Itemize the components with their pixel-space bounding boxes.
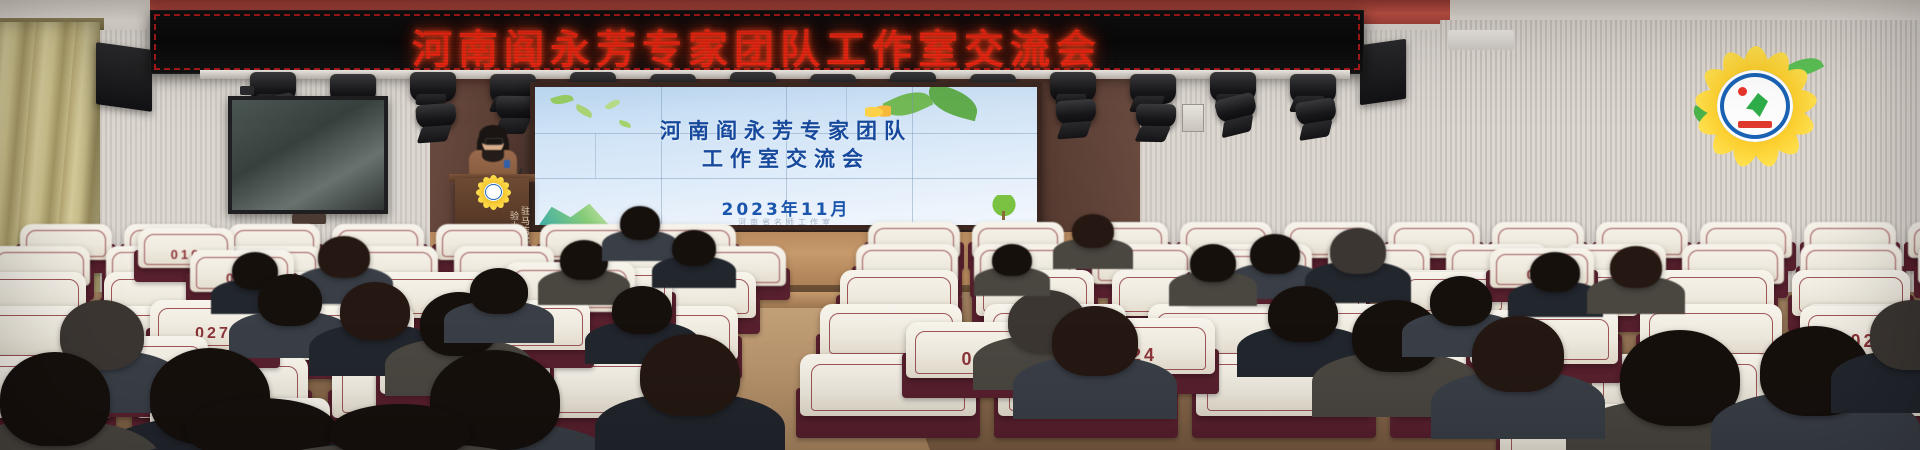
- audience-member-head: [318, 236, 370, 278]
- podium-sunflower-logo: [476, 176, 510, 208]
- audience-member-head: [1268, 286, 1338, 342]
- wall-monitor-screen: [232, 100, 384, 210]
- emblem-bird-icon: [1746, 93, 1768, 117]
- audience-member-head: [1190, 244, 1236, 282]
- audience-member-head: [1250, 234, 1300, 274]
- stage-light: [1294, 97, 1337, 127]
- audience-member-head: [0, 352, 110, 446]
- ceiling-camera: [240, 86, 254, 95]
- presenter-badge: [504, 160, 510, 168]
- emblem-red-dot-icon: [1738, 87, 1747, 96]
- audience-member-head: [1330, 228, 1386, 274]
- audience-member-head: [470, 268, 528, 314]
- stage-light: [410, 72, 456, 102]
- audience-member-head: [186, 398, 336, 450]
- audience-member-head: [1610, 246, 1662, 288]
- wall-speaker-right: [1360, 39, 1406, 105]
- audience-member-head: [560, 240, 608, 280]
- sunflower-logo: [1690, 48, 1822, 166]
- audience-member-head: [1430, 276, 1492, 326]
- podium-logo-core: [484, 183, 503, 201]
- stage-light: [1130, 74, 1176, 104]
- wall-speaker-left: [96, 42, 152, 112]
- presenter-glasses-icon: [485, 138, 503, 145]
- audience-member-head: [258, 274, 322, 326]
- audience-member-head: [340, 282, 410, 340]
- screen-panel-seam: [535, 178, 1037, 179]
- audience-member-head: [1052, 306, 1138, 376]
- audience-member-head: [620, 206, 660, 240]
- stage-light: [1136, 104, 1176, 129]
- screen-title-line1: 河南阎永芳专家团队: [535, 115, 1037, 145]
- audience-member-head: [330, 404, 470, 450]
- audience-member-head: [612, 286, 672, 334]
- audience-member-head: [1072, 214, 1114, 248]
- emblem-band: [1738, 121, 1772, 128]
- led-banner: 河南阎永芳专家团队工作室交流会: [150, 10, 1364, 74]
- conference-hall-photo: 河南阎永芳专家团队工作室交流会 河南阎永芳专家团队 工作室交流: [0, 0, 1920, 450]
- audience-member-head: [1472, 316, 1564, 392]
- audience-member-head: [992, 244, 1032, 276]
- projection-screen: 河南阎永芳专家团队 工作室交流会 2023年11月 河南省名师工作室: [535, 87, 1037, 225]
- screen-title-line2: 工作室交流会: [535, 143, 1037, 173]
- wall-monitor-bracket: [292, 214, 326, 224]
- audience-member-head: [640, 334, 740, 416]
- leaf-decoration: [550, 92, 574, 107]
- podium-logo-core-inner: [486, 185, 501, 199]
- wall-monitor: [228, 96, 388, 214]
- projection-screen-frame: 河南阎永芳专家团队 工作室交流会 2023年11月 河南省名师工作室: [530, 82, 1042, 230]
- audience-member-head: [672, 230, 716, 266]
- stage-light: [1055, 99, 1097, 126]
- leaf-decoration: [605, 97, 621, 112]
- stage-light: [1050, 72, 1096, 102]
- led-banner-text: 河南阎永芳专家团队工作室交流会: [151, 17, 1363, 75]
- audience-member-head: [1530, 252, 1580, 292]
- wall-control-panel: [1182, 104, 1204, 132]
- sunflower-core-inner: [1724, 77, 1786, 135]
- sunflower-core: [1717, 70, 1793, 142]
- stage-light: [415, 103, 457, 130]
- presenter-collar: [482, 150, 504, 162]
- air-conditioner-vent: [1448, 30, 1514, 50]
